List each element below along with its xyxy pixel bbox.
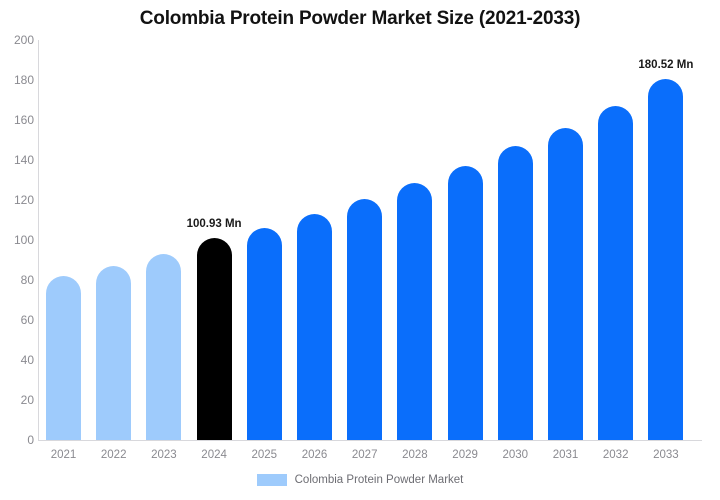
chart-container: Colombia Protein Powder Market Size (202… bbox=[0, 0, 720, 500]
bar-2032[interactable] bbox=[598, 106, 633, 440]
y-axis-tick: 120 bbox=[0, 194, 34, 206]
x-axis-tick-2026: 2026 bbox=[290, 448, 340, 462]
x-axis-tick-2031: 2031 bbox=[541, 448, 591, 462]
x-axis-line bbox=[38, 440, 702, 441]
bar-2022[interactable] bbox=[96, 266, 131, 440]
y-axis-tick: 160 bbox=[0, 114, 34, 126]
x-axis-tick-2033: 2033 bbox=[641, 448, 691, 462]
bar-2026[interactable] bbox=[297, 214, 332, 440]
x-axis-tick-2029: 2029 bbox=[440, 448, 490, 462]
bar-2021[interactable] bbox=[46, 276, 81, 440]
bar-2028[interactable] bbox=[397, 183, 432, 440]
bar-2029[interactable] bbox=[448, 166, 483, 440]
bar-value-label-2033: 180.52 Mn bbox=[621, 59, 711, 71]
x-axis-tick-labels: 2021202220232024202520262027202820292030… bbox=[38, 448, 702, 466]
y-axis-tick: 200 bbox=[0, 34, 34, 46]
x-axis-tick-2030: 2030 bbox=[490, 448, 540, 462]
y-axis-tick: 140 bbox=[0, 154, 34, 166]
y-axis-tick: 20 bbox=[0, 394, 34, 406]
bar-2025[interactable] bbox=[247, 228, 282, 440]
x-axis-tick-2021: 2021 bbox=[39, 448, 89, 462]
x-axis-tick-2028: 2028 bbox=[390, 448, 440, 462]
y-axis-tick: 60 bbox=[0, 314, 34, 326]
x-axis-tick-2032: 2032 bbox=[591, 448, 641, 462]
y-axis-tick: 40 bbox=[0, 354, 34, 366]
y-axis-tick-labels: 020406080100120140160180200 bbox=[0, 0, 34, 500]
y-axis-tick: 180 bbox=[0, 74, 34, 86]
bar-2030[interactable] bbox=[498, 146, 533, 440]
bar-2031[interactable] bbox=[548, 128, 583, 440]
chart-legend: Colombia Protein Powder Market bbox=[0, 474, 720, 486]
chart-title: Colombia Protein Powder Market Size (202… bbox=[0, 8, 720, 30]
legend-swatch-icon bbox=[257, 474, 287, 486]
y-axis-tick: 100 bbox=[0, 234, 34, 246]
y-axis-tick: 80 bbox=[0, 274, 34, 286]
x-axis-tick-2022: 2022 bbox=[89, 448, 139, 462]
bar-2024[interactable] bbox=[197, 238, 232, 440]
x-axis-tick-2023: 2023 bbox=[139, 448, 189, 462]
bar-value-label-2024: 100.93 Mn bbox=[169, 218, 259, 230]
bar-series: 100.93 Mn180.52 Mn bbox=[38, 40, 702, 440]
legend-label: Colombia Protein Powder Market bbox=[295, 474, 464, 486]
x-axis-tick-2025: 2025 bbox=[239, 448, 289, 462]
bar-2023[interactable] bbox=[146, 254, 181, 440]
y-axis-tick: 0 bbox=[0, 434, 34, 446]
bar-2033[interactable] bbox=[648, 79, 683, 440]
x-axis-tick-2027: 2027 bbox=[340, 448, 390, 462]
bar-2027[interactable] bbox=[347, 199, 382, 440]
x-axis-tick-2024: 2024 bbox=[189, 448, 239, 462]
